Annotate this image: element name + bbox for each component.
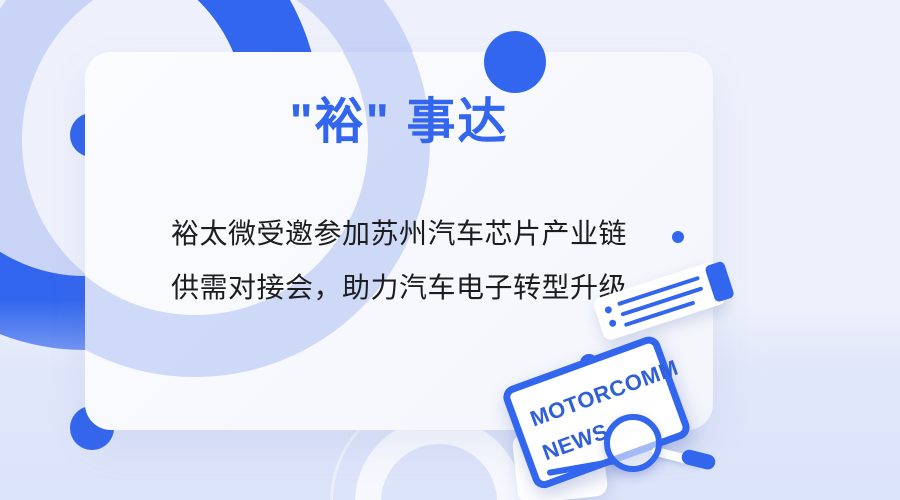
magnifier-lens xyxy=(604,414,662,472)
page-title: "裕" 事达 xyxy=(85,98,713,147)
banner-canvas: "裕" 事达 裕太微受邀参加苏州汽车芯片产业链 供需对接会，助力汽车电子转型升级… xyxy=(0,0,900,500)
subtitle-line-1: 裕太微受邀参加苏州汽车芯片产业链 xyxy=(85,220,713,248)
blue-circle-top-icon xyxy=(484,31,546,93)
magnifier-icon xyxy=(604,414,714,476)
magnifier-grip xyxy=(680,448,717,471)
blue-dot-right-icon xyxy=(672,231,684,243)
